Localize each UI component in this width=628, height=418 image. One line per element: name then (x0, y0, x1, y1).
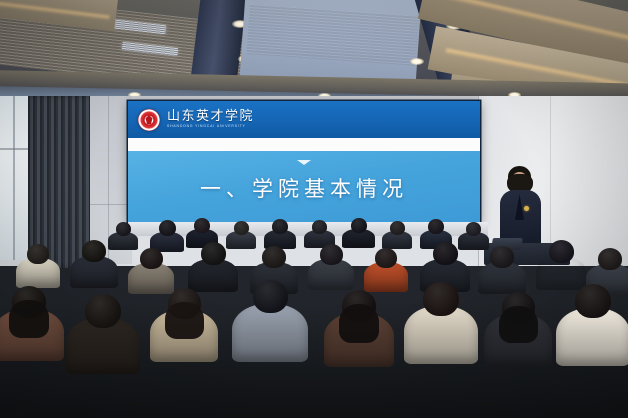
audience-member-head (466, 222, 481, 236)
audience-member-head (351, 218, 367, 233)
audience-member-long-hair (339, 304, 379, 343)
audience-member-head (423, 282, 459, 316)
audience-member-long-hair (499, 306, 538, 343)
audience-member-head (312, 220, 327, 234)
audience-member-head (428, 219, 444, 234)
slide-body: 一、学院基本情况 (128, 151, 480, 223)
audience-member (556, 284, 628, 376)
audience-member-long-hair (9, 300, 49, 337)
audience-member (308, 244, 354, 296)
triangle-down-icon (297, 160, 311, 165)
university-name-cn: 山东英才学院 (167, 110, 254, 123)
audience-member-head (375, 248, 397, 268)
audience-member-head (549, 240, 574, 263)
audience-member-head (82, 240, 106, 262)
university-seal-icon (138, 109, 160, 131)
audience-member (404, 282, 478, 374)
audience-member-head (490, 246, 514, 268)
audience-member-head (598, 248, 622, 270)
presenter-badge (524, 206, 529, 211)
audience-member-head (262, 246, 286, 268)
audience-member-head (390, 221, 405, 235)
audience-member-head (575, 284, 611, 318)
audience-member (232, 280, 308, 371)
audience-member-head (85, 294, 121, 328)
audience-member-head (27, 244, 49, 264)
audience-member-head (116, 222, 131, 236)
audience (0, 218, 628, 418)
audience-member-head (433, 242, 458, 265)
audience-member (0, 286, 64, 370)
audience-member-head (253, 280, 288, 313)
audience-member (66, 294, 140, 384)
university-name-block: 山东英才学院 SHANDONG YINGCAI UNIVERSITY (167, 110, 254, 128)
audience-member-head (201, 242, 226, 265)
audience-member (70, 240, 118, 294)
audience-member-head (320, 244, 343, 265)
audience-member-head (159, 220, 176, 236)
wall-seam (86, 204, 132, 205)
projection-screen[interactable]: 山东英才学院 SHANDONG YINGCAI UNIVERSITY 一、学院基… (128, 101, 480, 223)
university-name-en: SHANDONG YINGCAI UNIVERSITY (167, 125, 254, 128)
lecture-hall-photo: 山东英才学院 SHANDONG YINGCAI UNIVERSITY 一、学院基… (0, 0, 628, 418)
audience-member (484, 292, 552, 375)
slide-title: 一、学院基本情况 (128, 173, 480, 203)
audience-member (150, 288, 218, 371)
audience-member-long-hair (165, 302, 204, 339)
audience-member (324, 290, 394, 376)
slide-divider (128, 138, 480, 151)
slide-header-band: 山东英才学院 SHANDONG YINGCAI UNIVERSITY (128, 101, 480, 138)
audience-member-head (140, 248, 163, 269)
ceiling (0, 0, 628, 104)
audience-member-head (272, 219, 288, 234)
ceiling-spotlight-icon (410, 58, 424, 65)
audience-member-head (234, 221, 249, 235)
audience-member-head (194, 218, 210, 233)
